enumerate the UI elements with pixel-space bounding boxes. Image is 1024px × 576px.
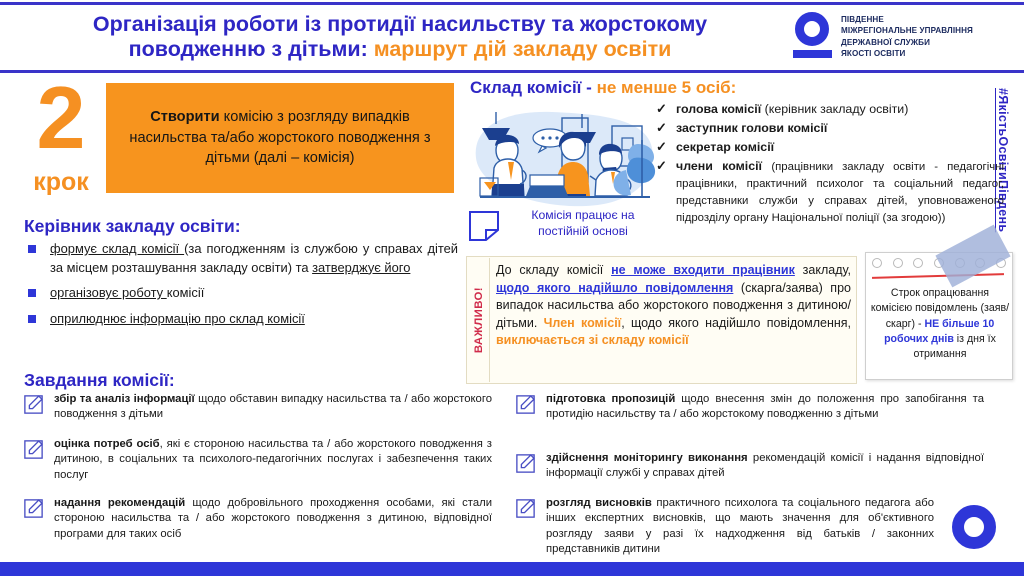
pencil-square-icon <box>22 497 45 520</box>
footer-bar <box>0 562 1024 576</box>
pencil-square-icon <box>22 438 45 461</box>
task-right-1-bold: здійснення моніторингу виконання <box>546 452 748 464</box>
director-heading: Керівник закладу освіти: <box>24 216 241 237</box>
imp-u2: щодо якого надійшло повідомлення <box>496 281 733 295</box>
pencil-square-icon <box>514 497 537 520</box>
task-left-2-bold: надання рекомендацій <box>54 497 185 509</box>
composition-heading-plain: Склад комісії - <box>470 78 597 97</box>
list-item: секретар комісії <box>656 139 1004 155</box>
permanent-basis-label: Комісія працює на постійній основі <box>508 208 658 240</box>
list-item: організовує роботу комісії <box>28 284 458 303</box>
header-rule-top <box>0 2 1024 5</box>
imp-p4: , щодо якого надійшло повідомлення, <box>621 316 851 330</box>
task-item: оцінка потреб осіб, які є стороною насил… <box>22 437 492 483</box>
imp-o1: Член комісії <box>544 316 622 330</box>
meeting-people-illustration <box>466 100 662 220</box>
director-bullet-list: формує склад комісії (за погодженням із … <box>28 240 458 336</box>
tasks-heading: Завдання комісії: <box>24 370 175 391</box>
task-text: надання рекомендацій щодо добровільного … <box>54 496 492 542</box>
list-item: формує склад комісії (за погодженням із … <box>28 240 458 277</box>
important-text: До складу комісії не може входити праців… <box>496 262 851 350</box>
task-right-0-bold: підготовка пропозицій <box>546 393 675 405</box>
permanent-basis-note: Комісія працює на постійній основі <box>468 208 658 254</box>
logo-line-3: ДЕРЖАВНОЇ СЛУЖБИ <box>841 37 1009 48</box>
page-title-line1: Організація роботи із протидії насильств… <box>20 12 780 37</box>
page-title-line2: поводженню з дітьми: маршрут дій закладу… <box>20 37 780 62</box>
member-0-rest: (керівник закладу освіти) <box>765 102 909 116</box>
task-text: здійснення моніторингу виконання рекомен… <box>546 451 984 482</box>
list-item: члени комісії (працівники закладу освіти… <box>656 158 1004 226</box>
task-item: розгляд висновків практичного психолога … <box>514 496 934 557</box>
imp-p1: До складу комісії <box>496 263 611 277</box>
pencil-square-icon <box>514 393 537 416</box>
pencil-square-icon <box>22 393 45 416</box>
step-box-bold: Створити <box>150 109 219 125</box>
task-item: підготовка пропозицій щодо внесення змін… <box>514 392 984 423</box>
logo-text: ПІВДЕННЕ МІЖРЕГІОНАЛЬНЕ УПРАВЛІННЯ ДЕРЖА… <box>841 14 1009 60</box>
page-title: Організація роботи із протидії насильств… <box>20 12 780 62</box>
member-2-bold: секретар комісії <box>676 140 774 154</box>
organization-logo: ПІВДЕННЕ МІЖРЕГІОНАЛЬНЕ УПРАВЛІННЯ ДЕРЖА… <box>793 12 1008 62</box>
step-description-box: Створити комісію з розгляду випадків нас… <box>106 83 454 193</box>
logo-line-4: ЯКОСТІ ОСВІТИ <box>841 48 1009 59</box>
composition-heading: Склад комісії - не менше 5 осіб: <box>470 78 736 98</box>
imp-p2: закладу, <box>795 263 851 277</box>
list-item: голова комісії (керівник закладу освіти) <box>656 101 1004 117</box>
logo-line-2: МІЖРЕГІОНАЛЬНЕ УПРАВЛІННЯ <box>841 25 1009 36</box>
committee-members-list: голова комісії (керівник закладу освіти)… <box>656 101 1004 228</box>
director-item-1-u1: організовує роботу <box>50 285 167 300</box>
list-item: заступник голови комісії <box>656 120 1004 136</box>
folded-page-icon <box>468 210 500 242</box>
infographic-page: Організація роботи із протидії насильств… <box>0 0 1024 576</box>
task-left-0-bold: збір та аналіз інформації <box>54 393 195 405</box>
task-item: надання рекомендацій щодо добровільного … <box>22 496 492 542</box>
member-1-bold: заступник голови комісії <box>676 121 827 135</box>
director-item-0-u1: формує склад комісії <box>50 241 184 256</box>
task-text: оцінка потреб осіб, які є стороною насил… <box>54 437 492 483</box>
imp-u1: не може входити працівник <box>611 263 795 277</box>
page-title-line2-plain: поводженню з дітьми: <box>129 37 374 61</box>
step-number: 2 <box>22 78 100 159</box>
task-text: розгляд висновків практичного психолога … <box>546 496 934 557</box>
header-rule-bottom <box>0 70 1024 73</box>
ring-and-bar-logo-icon <box>793 12 833 60</box>
page-title-line2-orange: маршрут дій закладу освіти <box>374 37 672 61</box>
step-word: крок <box>22 168 100 197</box>
task-item: збір та аналіз інформації щодо обставин … <box>22 392 492 423</box>
important-label: ВАЖЛИВО! <box>468 258 490 382</box>
task-right-2-bold: розгляд висновків <box>546 497 652 509</box>
composition-heading-orange: не менше 5 осіб: <box>597 78 737 97</box>
member-0-bold: голова комісії <box>676 102 765 116</box>
sticky-note-text: Строк опрацювання комісією повідомлень (… <box>870 286 1010 362</box>
footer-ring-icon <box>952 505 996 549</box>
task-left-1-bold: оцінка потреб осіб <box>54 438 160 450</box>
director-item-0-u2: затверджує його <box>312 260 410 275</box>
logo-line-1: ПІВДЕННЕ <box>841 14 1009 25</box>
task-text: підготовка пропозицій щодо внесення змін… <box>546 392 984 423</box>
director-item-1-plain: комісії <box>167 285 205 300</box>
task-item: здійснення моніторингу виконання рекомен… <box>514 451 984 482</box>
member-3-bold: члени комісії <box>676 159 771 173</box>
imp-o2: виключається зі складу комісії <box>496 333 689 347</box>
director-item-2-u1: оприлюднює інформацію про склад комісії <box>50 311 305 326</box>
list-item: оприлюднює інформацію про склад комісії <box>28 310 458 329</box>
task-text: збір та аналіз інформації щодо обставин … <box>54 392 492 423</box>
pencil-square-icon <box>514 452 537 475</box>
